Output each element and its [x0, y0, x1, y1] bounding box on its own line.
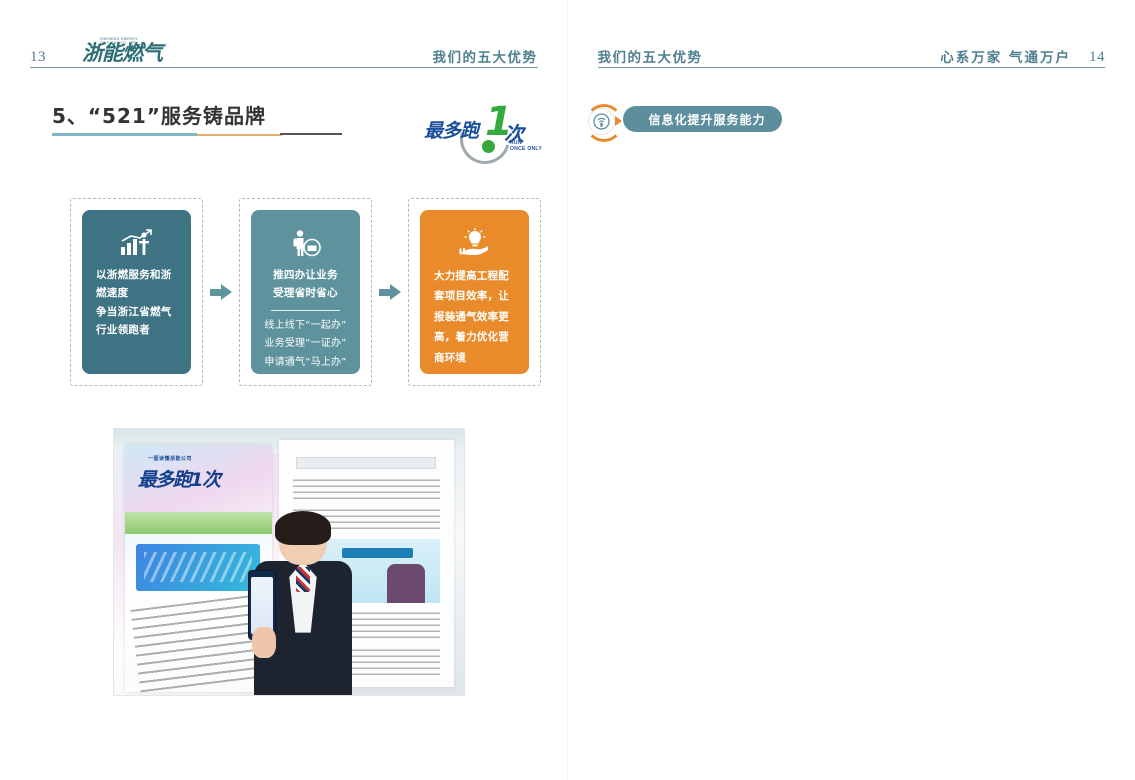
advantage-card-2-head: 推四办让业务 受理省时省心: [261, 266, 350, 303]
photo-board-heading: [296, 457, 436, 469]
photo-banner-left: 一图读懂浙能公司 最多跑1次: [125, 445, 272, 692]
right-page: 我们的五大优势 心系万家 气通万户 14 信息化提升服务能力: [568, 0, 1135, 780]
book-spread: 13 ZHENENG ENERGYCITY GAS CO.,LTD 浙能燃气 我…: [0, 0, 1135, 780]
card-arrow-1: [210, 284, 232, 300]
photo-banner-title: 最多跑1次: [138, 465, 220, 492]
run-once-cn: 最多跑: [424, 116, 478, 143]
photo-banner-subtitle: 一图读懂浙能公司: [148, 455, 192, 462]
photo-banner-paragraph: [130, 593, 266, 692]
advantage-card-2[interactable]: 推四办让业务 受理省时省心 线上线下“一起办” 业务受理“一证办” 申请通气“马…: [251, 210, 360, 374]
section-title-block: 5、“521”服务铸品牌: [52, 100, 266, 129]
card-wrap-2: 推四办让业务 受理省时省心 线上线下“一起办” 业务受理“一证办” 申请通气“马…: [239, 198, 372, 386]
screenshot-page: 13 ZHENENG ENERGYCITY GAS CO.,LTD 浙能燃气 我…: [0, 0, 1135, 780]
page-title: 5、“521”服务铸品牌: [52, 100, 266, 129]
card-separator: [271, 310, 340, 311]
advantage-card-2-body: 线上线下“一起办” 业务受理“一证办” 申请通气“马上办” 服务上门“现场办”: [261, 317, 350, 391]
right-header-slogan: 心系万家 气通万户: [940, 46, 1071, 66]
bulb-hand-icon: [430, 226, 519, 260]
header-rule: [598, 67, 1106, 69]
photo-person-hand: [252, 627, 276, 657]
growth-chart-icon: [92, 226, 181, 260]
info-signal-icon: [588, 108, 615, 135]
left-page-header: 13 ZHENENG ENERGYCITY GAS CO.,LTD 浙能燃气 我…: [30, 42, 538, 68]
service-person-icon: [261, 226, 350, 260]
right-page-number: 14: [1089, 49, 1105, 66]
left-page-number: 13: [30, 49, 46, 66]
photo-banner-green: [125, 512, 272, 534]
card-wrap-3: 大力提高工程配 套项目效率，让 报装通气效率更 高，着力优化营 商环境: [408, 198, 541, 386]
run-once-dot: [482, 140, 495, 153]
advantage-card-1[interactable]: 以浙燃服务和浙 燃速度 争当浙江省燃气 行业领跑者: [82, 210, 191, 374]
run-once-en: RUNONCE ONLY: [510, 140, 542, 152]
right-header-left-title: 我们的五大优势: [598, 46, 703, 66]
event-photo: 一图读懂浙能公司 最多跑1次: [113, 428, 465, 696]
photo-banner-bigtext: [136, 544, 259, 591]
title-underline-gold: [197, 134, 282, 136]
title-underline-dark: [280, 133, 342, 135]
advantage-card-1-text: 以浙燃服务和浙 燃速度 争当浙江省燃气 行业领跑者: [92, 266, 181, 340]
card-arrow-2: [379, 284, 401, 300]
company-logo-cn: 浙能燃气: [82, 37, 162, 67]
right-page-header: 我们的五大优势 心系万家 气通万户 14: [598, 42, 1106, 68]
header-rule: [30, 67, 538, 69]
photo-person: [254, 517, 352, 695]
card-wrap-1: 以浙燃服务和浙 燃速度 争当浙江省燃气 行业领跑者: [70, 198, 203, 386]
run-once-logo: 最多跑 1 次 RUNONCE ONLY: [424, 104, 544, 160]
photo-board-text-1: [293, 477, 440, 499]
advantage-cards: 以浙燃服务和浙 燃速度 争当浙江省燃气 行业领跑者: [70, 198, 510, 393]
company-logo: ZHENENG ENERGYCITY GAS CO.,LTD 浙能燃气: [82, 39, 162, 67]
advantage-card-3[interactable]: 大力提高工程配 套项目效率，让 报装通气效率更 高，着力优化营 商环境: [420, 210, 529, 374]
advantage-card-3-body: 大力提高工程配 套项目效率，让 报装通气效率更 高，着力优化营 商环境: [430, 266, 519, 368]
photo-person-hair: [275, 511, 332, 545]
info-banner-label: 信息化提升服务能力: [623, 106, 782, 132]
left-page: 13 ZHENENG ENERGYCITY GAS CO.,LTD 浙能燃气 我…: [0, 0, 568, 780]
photo-illu-banner: [342, 548, 413, 558]
left-header-title: 我们的五大优势: [433, 46, 538, 66]
title-underline-teal: [52, 133, 197, 136]
photo-person-tie: [296, 567, 310, 592]
